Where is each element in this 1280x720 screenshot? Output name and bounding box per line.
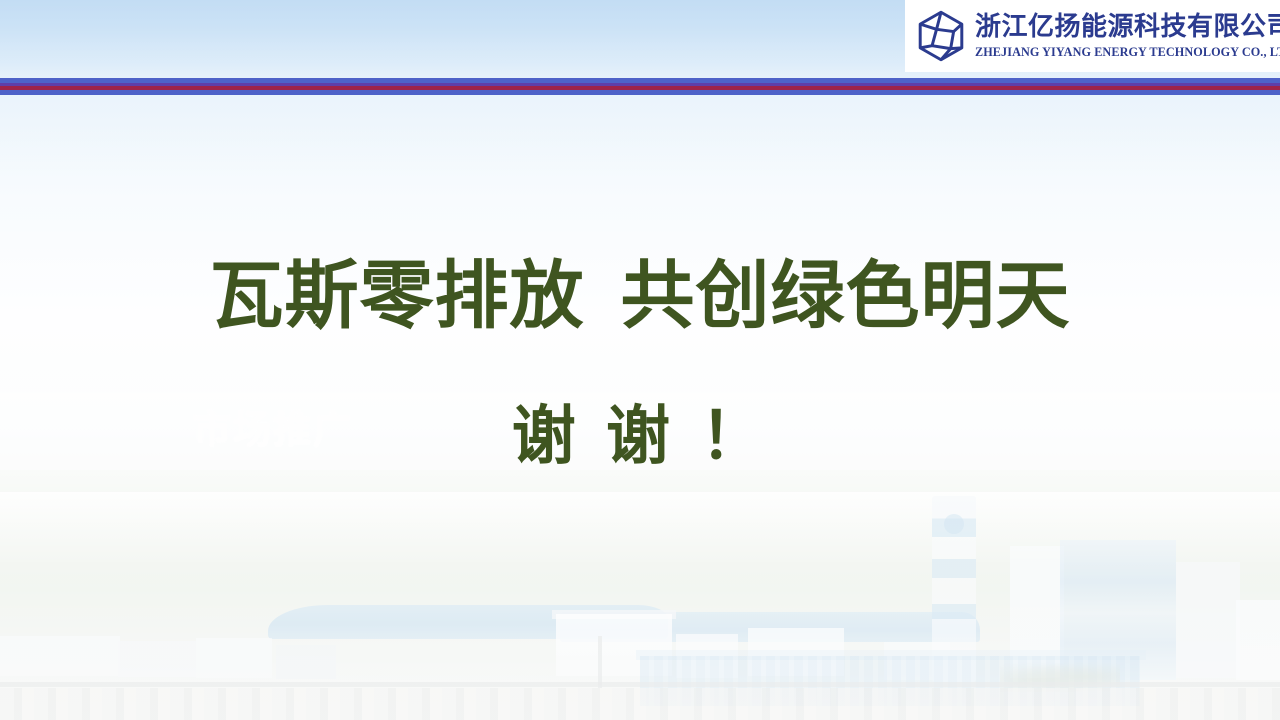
plant-building-left-4 [276, 645, 336, 679]
headline-part-1: 瓦斯零排放 [210, 253, 585, 339]
thanks-text: 谢 谢 ！ [0, 404, 1280, 471]
background-photo [0, 0, 1280, 720]
plant-building-left-2 [118, 641, 196, 677]
plant-foreground-yard [0, 688, 1280, 720]
company-name-block: 浙江亿扬能源科技有限公司 ZHEJIANG YIYANG ENERGY TECH… [975, 14, 1280, 58]
hexagon-crystal-logo-icon [917, 10, 965, 62]
company-logo-plate: 浙江亿扬能源科技有限公司 ZHEJIANG YIYANG ENERGY TECH… [905, 0, 1280, 72]
divider-rule-bar [0, 78, 1280, 95]
plant-building-right-4 [1236, 600, 1280, 680]
headline-part-2: 共创绿色明天 [621, 253, 1071, 339]
presentation-slide: 市场推广 瓦斯零排放共创绿色明天 谢 谢 ！ 浙江亿扬能源科技有限公司 ZHEJ… [0, 0, 1280, 720]
page-title: 瓦斯零排放共创绿色明天 [0, 258, 1280, 336]
company-name-cn: 浙江亿扬能源科技有限公司 [975, 14, 1280, 40]
company-name-en: ZHEJIANG YIYANG ENERGY TECHNOLOGY CO., L… [975, 46, 1280, 58]
rule-stripe-blue-bottom [0, 90, 1280, 95]
plant-building-left-3 [196, 638, 272, 678]
plant-rail-line [0, 682, 1280, 687]
plant-building-left-1 [0, 636, 120, 676]
plant-building-right-3 [1176, 562, 1240, 678]
plant-light-pole [598, 636, 602, 688]
chimney-logo-icon [944, 514, 964, 534]
